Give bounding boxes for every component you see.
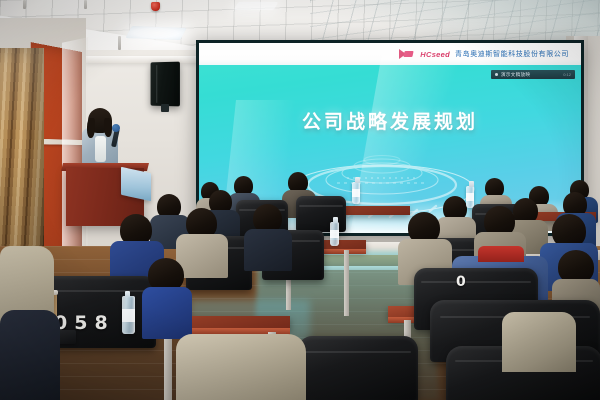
company-logo-icon bbox=[399, 48, 415, 60]
sprinkler-icon bbox=[84, 0, 87, 9]
desk-leg bbox=[344, 250, 349, 316]
wall-speaker-mount bbox=[161, 104, 169, 112]
water-bottle-icon bbox=[122, 296, 135, 334]
desk-leg bbox=[164, 332, 172, 400]
chair-number: 0 bbox=[456, 274, 466, 290]
toolbar-label: 演示文稿放映 bbox=[501, 72, 530, 78]
water-bottle-icon bbox=[466, 186, 474, 208]
company-name-text: 青岛奥迪斯智能科技股份有限公司 bbox=[455, 49, 569, 59]
recessed-ceiling-light-secondary-icon bbox=[234, 2, 279, 10]
sprinkler-icon bbox=[118, 36, 121, 50]
water-bottle-icon bbox=[330, 222, 339, 246]
logo-text: HCseed bbox=[420, 50, 450, 59]
sprinkler-icon bbox=[23, 0, 26, 9]
toolbar-timer: 0:12 bbox=[563, 72, 571, 77]
conference-room-photo: HCseed 青岛奥迪斯智能科技股份有限公司 演示文稿放映 0:12 公司战略发… bbox=[0, 0, 600, 400]
water-bottle-icon bbox=[352, 182, 360, 204]
recessed-ceiling-light-icon bbox=[125, 26, 186, 40]
wall-speaker-icon bbox=[151, 62, 180, 107]
slide-toolbar[interactable]: 演示文稿放映 0:12 bbox=[491, 70, 575, 79]
toolbar-dot-icon bbox=[495, 73, 498, 76]
presenter-shirt bbox=[95, 136, 106, 162]
slide-banner: HCseed 青岛奥迪斯智能科技股份有限公司 bbox=[199, 43, 581, 65]
fire-alarm-icon bbox=[151, 2, 160, 11]
microphone-head-icon bbox=[112, 124, 120, 132]
presenter-hair-right bbox=[104, 118, 112, 137]
presenter-hair-left bbox=[87, 118, 95, 138]
chair[interactable] bbox=[298, 336, 418, 400]
